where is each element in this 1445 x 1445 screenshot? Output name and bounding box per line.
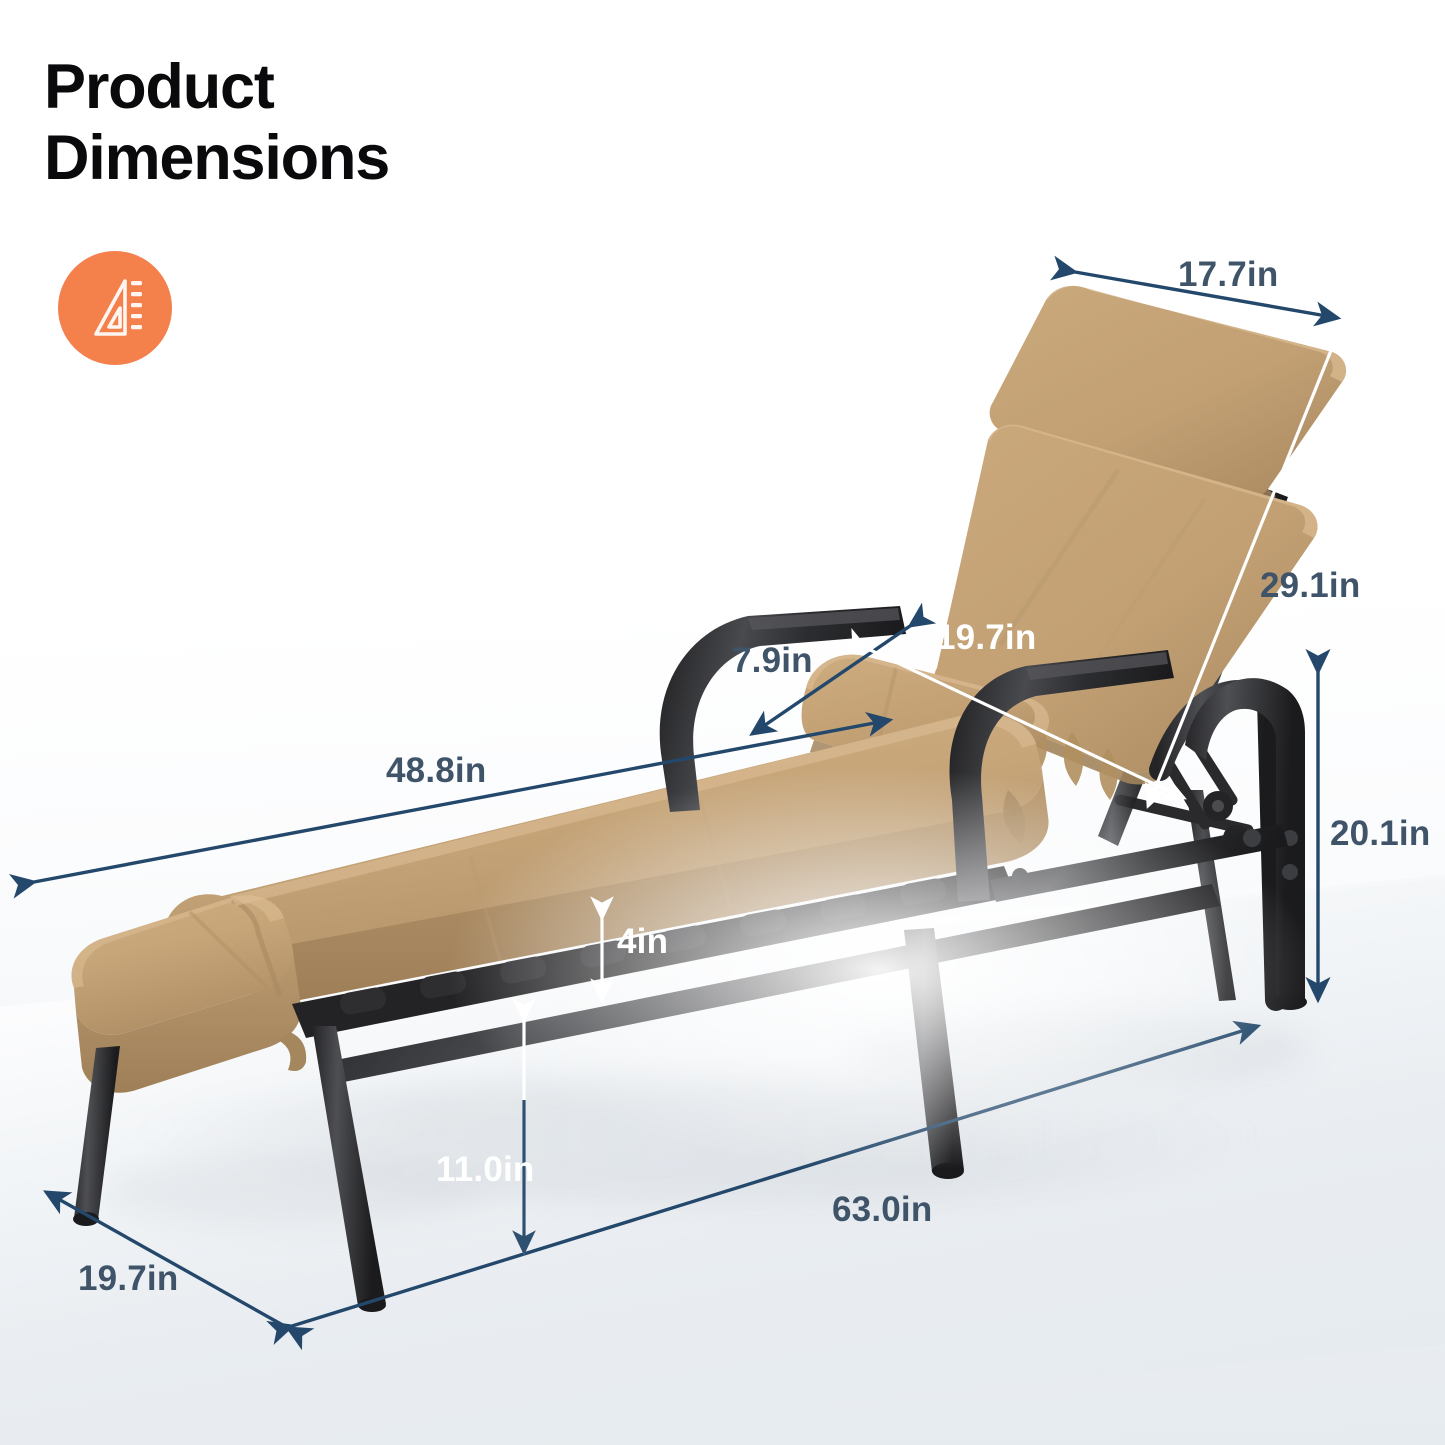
dimension-label-backrest-width: 17.7in — [1178, 255, 1278, 295]
dimension-label-cushion-thickness: 4in — [617, 922, 668, 962]
dimension-label-back-height: 20.1in — [1330, 814, 1430, 854]
product-dimensions-infographic: Product Dimensions — [0, 0, 1445, 1445]
dimension-label-cushion-length: 48.8in — [386, 751, 486, 791]
dimension-label-overall-length: 63.0in — [832, 1190, 932, 1230]
dimension-label-pillow-height: 7.9in — [732, 641, 813, 681]
chaise-lounge-illustration — [0, 0, 1445, 1445]
dimension-label-seat-width: 19.7in — [936, 618, 1036, 658]
dimension-label-overall-depth: 19.7in — [78, 1259, 178, 1299]
dimension-label-backrest-length: 29.1in — [1260, 566, 1360, 606]
dimension-label-seat-height: 11.0in — [436, 1150, 535, 1190]
